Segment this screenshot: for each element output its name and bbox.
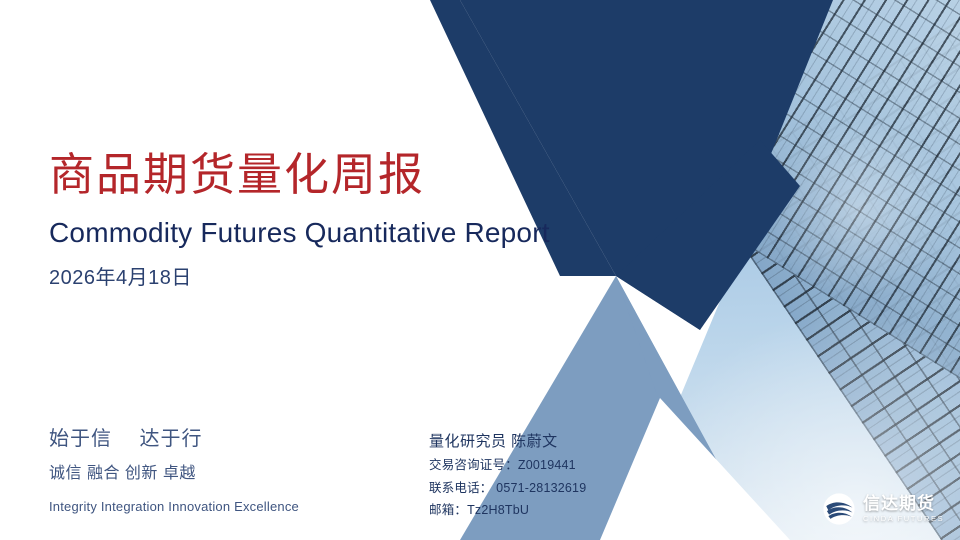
analyst-email: 邮箱：Tz2H8TbU <box>429 504 586 517</box>
slogan-values-zh: 诚信 融合 创新 卓越 <box>49 466 299 482</box>
cinda-swoosh-icon <box>822 492 856 526</box>
analyst-phone: 联系电话： 0571-28132619 <box>429 482 586 495</box>
slogan-main: 始于信 达于行 <box>49 429 299 449</box>
company-logo: 信达期货 CINDA FUTURES <box>822 492 944 526</box>
logo-name-en: CINDA FUTURES <box>863 515 944 523</box>
analyst-license: 交易咨询证号：Z0019441 <box>429 459 586 472</box>
slogan-block: 始于信 达于行 诚信 融合 创新 卓越 Integrity Integratio… <box>49 429 299 513</box>
report-date: 2026年4月18日 <box>49 268 192 288</box>
contact-block: 量化研究员 陈蔚文 交易咨询证号：Z0019441 联系电话： 0571-281… <box>429 434 586 517</box>
analyst-name: 量化研究员 陈蔚文 <box>429 434 586 449</box>
page-title-en: Commodity Futures Quantitative Report <box>49 219 550 247</box>
sky-glow-upper <box>770 120 950 300</box>
logo-text: 信达期货 CINDA FUTURES <box>863 495 944 523</box>
page-title-zh: 商品期货量化周报 <box>49 152 425 197</box>
title-slide: 商品期货量化周报 Commodity Futures Quantitative … <box>0 0 960 540</box>
slogan-values-en: Integrity Integration Innovation Excelle… <box>49 500 299 513</box>
logo-name-zh: 信达期货 <box>863 495 944 512</box>
